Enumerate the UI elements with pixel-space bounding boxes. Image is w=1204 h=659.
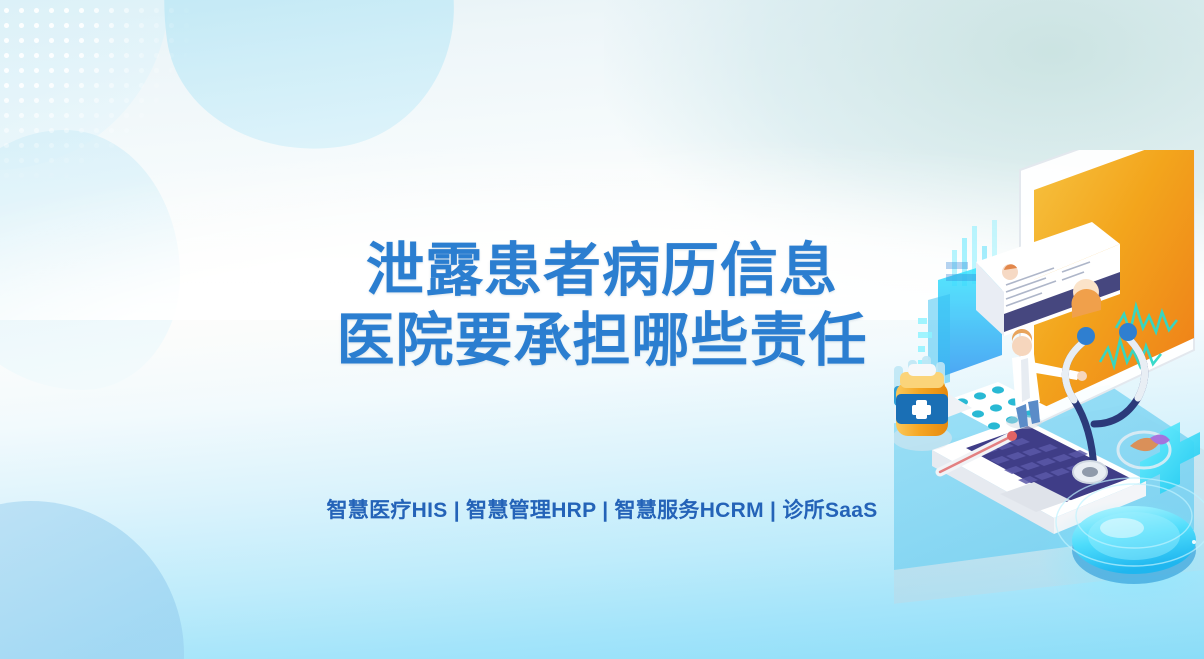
headline-line-2: 医院要承担哪些责任 — [0, 306, 1204, 376]
isometric-medical-illustration — [894, 150, 1204, 659]
headline-line-1: 泄露患者病历信息 — [0, 236, 1204, 306]
blob-top-center — [138, 0, 472, 169]
medicine-bottle — [894, 364, 952, 451]
blob-top-left — [0, 0, 170, 170]
subtitle: 智慧医疗HIS | 智慧管理HRP | 智慧服务HCRM | 诊所SaaS — [0, 494, 1204, 524]
bottom-left-circle — [0, 501, 184, 659]
headline: 泄露患者病历信息 医院要承担哪些责任 — [0, 236, 1204, 376]
promo-banner: 泄露患者病历信息 医院要承担哪些责任 智慧医疗HIS | 智慧管理HRP | 智… — [0, 0, 1204, 659]
